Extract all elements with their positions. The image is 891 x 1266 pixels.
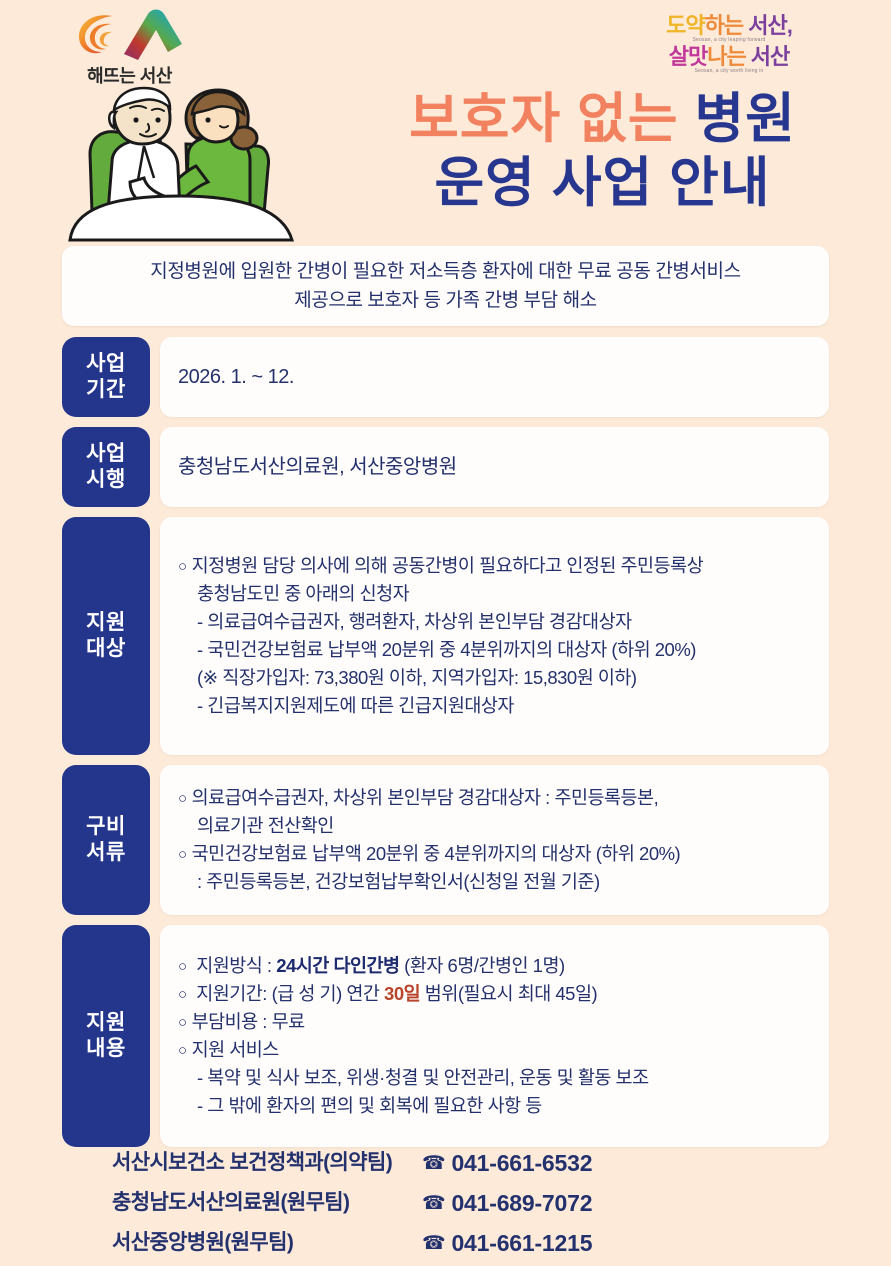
row-label-line-1: 구비 (86, 814, 126, 840)
service-line-detail-2: - 그 밖에 환자의 편의 및 회복에 필요한 사항 등 (178, 1092, 811, 1120)
documents-line-2: 의료기관 전산확인 (178, 812, 811, 840)
operating-hospitals-value: 충청남도서산의료원, 서산중앙병원 (178, 452, 811, 482)
city-slogan: 도약하는 서산, Seosan, a city leaping forward … (629, 14, 829, 75)
slogan-word-seosan-1: 서산, (748, 13, 792, 38)
service-line-detail-1: - 복약 및 식사 보조, 위생·청결 및 안전관리, 운동 및 활동 보조 (178, 1064, 811, 1092)
telephone-icon: ☎ (422, 1152, 445, 1175)
info-row-required-documents: 구비 서류 의료급여수급권자, 차상위 본인부담 경감대상자 : 주민등록등본,… (62, 765, 829, 915)
city-logo: 해뜨는 서산 (72, 8, 187, 88)
service-line-method: 지원방식 : 24시간 다인간병 (환자 6명/간병인 1명) (178, 952, 811, 980)
eligibility-line-5: (※ 직장가입자: 73,380원 이하, 지역가입자: 15,830원 이하) (178, 664, 811, 692)
slogan-roman-2: Seosan, a city worth living in (629, 69, 829, 74)
service-method-detail: (환자 6명/간병인 1명) (400, 955, 565, 976)
service-duration-detail: 범위(필요시 최대 45일) (420, 983, 597, 1004)
title-line-2: 운영 사업 안내 (330, 152, 875, 216)
title-part-coral: 보호자 없는 (409, 89, 678, 149)
eligibility-line-1: 지정병원 담당 의사에 의해 공동간병이 필요하다고 인정된 주민등록상 (178, 552, 811, 580)
contact-footer: 서산시보건소 보건정책과(의약팀) ☎ 041-661-6532 충청남도서산의… (62, 1146, 829, 1266)
eligibility-line-3: - 의료급여수급권자, 행려환자, 차상위 본인부담 경감대상자 (178, 608, 811, 636)
documents-line-4: : 주민등록등본, 건강보험납부확인서(신청일 전월 기준) (178, 868, 811, 896)
row-label-line-1: 사업 (86, 441, 126, 467)
slogan-word-haneun: 하는 (705, 13, 749, 38)
contact-row: 서산중앙병원(원무팀) ☎ 041-661-1215 (62, 1226, 829, 1257)
row-content-service-details: 지원방식 : 24시간 다인간병 (환자 6명/간병인 1명) 지원기간: (급… (160, 925, 829, 1147)
row-label-line-2: 내용 (86, 1036, 126, 1062)
row-label-eligibility: 지원 대상 (62, 517, 150, 755)
caregiver-with-elderly-patient-illustration (68, 84, 303, 242)
title-part-navy: 병원 (695, 89, 796, 149)
row-label-line-2: 대상 (86, 636, 126, 662)
row-label-line-2: 기간 (86, 377, 126, 403)
eligibility-line-2: 충청남도민 중 아래의 신청자 (178, 580, 811, 608)
row-label-operating-hospitals: 사업 시행 (62, 427, 150, 507)
slogan-word-salmat: 살맛 (669, 44, 707, 69)
eligibility-line-4: - 국민건강보험료 납부액 20분위 중 4분위까지의 대상자 (하위 20%) (178, 636, 811, 664)
info-row-operating-hospitals: 사업 시행 충청남도서산의료원, 서산중앙병원 (62, 427, 829, 507)
eligibility-line-6: - 긴급복지지원제도에 따른 긴급지원대상자 (178, 692, 811, 720)
documents-line-3: 국민건강보험료 납부액 20분위 중 4분위까지의 대상자 (하위 20%) (178, 840, 811, 868)
row-label-project-period: 사업 기간 (62, 337, 150, 417)
project-period-value: 2026. 1. ~ 12. (178, 362, 811, 392)
service-method-highlight: 24시간 다인간병 (276, 955, 399, 976)
title-line-1: 보호자 없는 병원 (330, 88, 875, 152)
service-duration-label: 지원기간: (급 성 기) 연간 (196, 983, 384, 1004)
contact-org-name: 충청남도서산의료원(원무팀) (62, 1186, 422, 1216)
contact-org-name: 서산중앙병원(원무팀) (62, 1226, 422, 1256)
row-label-line-1: 지원 (86, 610, 126, 636)
slogan-word-doyak: 도약 (666, 13, 704, 38)
row-label-line-1: 사업 (86, 351, 126, 377)
row-label-line-2: 서류 (86, 840, 126, 866)
contact-row: 충청남도서산의료원(원무팀) ☎ 041-689-7072 (62, 1186, 829, 1217)
row-label-required-documents: 구비 서류 (62, 765, 150, 915)
subtitle-line-2: 제공으로 보호자 등 가족 간병 부담 해소 (150, 286, 740, 315)
contact-row: 서산시보건소 보건정책과(의약팀) ☎ 041-661-6532 (62, 1146, 829, 1177)
contact-phone-number: 041-661-6532 (451, 1150, 592, 1177)
row-content-operating-hospitals: 충청남도서산의료원, 서산중앙병원 (160, 427, 829, 507)
poster-header: 해뜨는 서산 도약하는 서산, Seosan, a city leaping f… (0, 0, 891, 240)
documents-line-1: 의료급여수급권자, 차상위 본인부담 경감대상자 : 주민등록등본, (178, 784, 811, 812)
service-line-duration: 지원기간: (급 성 기) 연간 30일 범위(필요시 최대 45일) (178, 980, 811, 1008)
service-duration-highlight: 30일 (384, 983, 420, 1004)
service-line-services: 지원 서비스 (178, 1036, 811, 1064)
slogan-line-1: 도약하는 서산, (629, 14, 829, 37)
row-content-eligibility: 지정병원 담당 의사에 의해 공동간병이 필요하다고 인정된 주민등록상 충청남… (160, 517, 829, 755)
contact-phone-number: 041-689-7072 (451, 1190, 592, 1217)
slogan-word-seosan-2: 서산 (751, 44, 789, 69)
info-rows: 사업 기간 2026. 1. ~ 12. 사업 시행 충청남도서산의료원, 서산… (62, 337, 829, 1157)
service-method-label: 지원방식 : (196, 955, 276, 976)
row-label-line-2: 시행 (86, 467, 126, 493)
contact-phone-number: 041-661-1215 (451, 1230, 592, 1257)
page-title: 보호자 없는 병원 운영 사업 안내 (330, 88, 875, 215)
subtitle-box: 지정병원에 입원한 간병이 필요한 저소득층 환자에 대한 무료 공동 간병서비… (62, 246, 829, 326)
row-label-line-1: 지원 (86, 1010, 126, 1036)
info-row-project-period: 사업 기간 2026. 1. ~ 12. (62, 337, 829, 417)
slogan-roman-1: Seosan, a city leaping forward (629, 38, 829, 43)
contact-org-name: 서산시보건소 보건정책과(의약팀) (62, 1146, 422, 1176)
seosan-city-logo-icon (72, 8, 187, 60)
slogan-word-naneun: 나는 (707, 44, 751, 69)
slogan-line-2: 살맛나는 서산 (629, 45, 829, 68)
subtitle-line-1: 지정병원에 입원한 간병이 필요한 저소득층 환자에 대한 무료 공동 간병서비… (150, 257, 740, 286)
row-content-required-documents: 의료급여수급권자, 차상위 본인부담 경감대상자 : 주민등록등본, 의료기관 … (160, 765, 829, 915)
service-line-cost: 부담비용 : 무료 (178, 1008, 811, 1036)
contact-phone[interactable]: ☎ 041-689-7072 (422, 1190, 592, 1217)
telephone-icon: ☎ (422, 1192, 445, 1215)
info-row-eligibility: 지원 대상 지정병원 담당 의사에 의해 공동간병이 필요하다고 인정된 주민등… (62, 517, 829, 755)
telephone-icon: ☎ (422, 1232, 445, 1255)
info-row-service-details: 지원 내용 지원방식 : 24시간 다인간병 (환자 6명/간병인 1명) 지원… (62, 925, 829, 1147)
contact-phone[interactable]: ☎ 041-661-1215 (422, 1230, 592, 1257)
row-label-service-details: 지원 내용 (62, 925, 150, 1147)
contact-phone[interactable]: ☎ 041-661-6532 (422, 1150, 592, 1177)
row-content-project-period: 2026. 1. ~ 12. (160, 337, 829, 417)
